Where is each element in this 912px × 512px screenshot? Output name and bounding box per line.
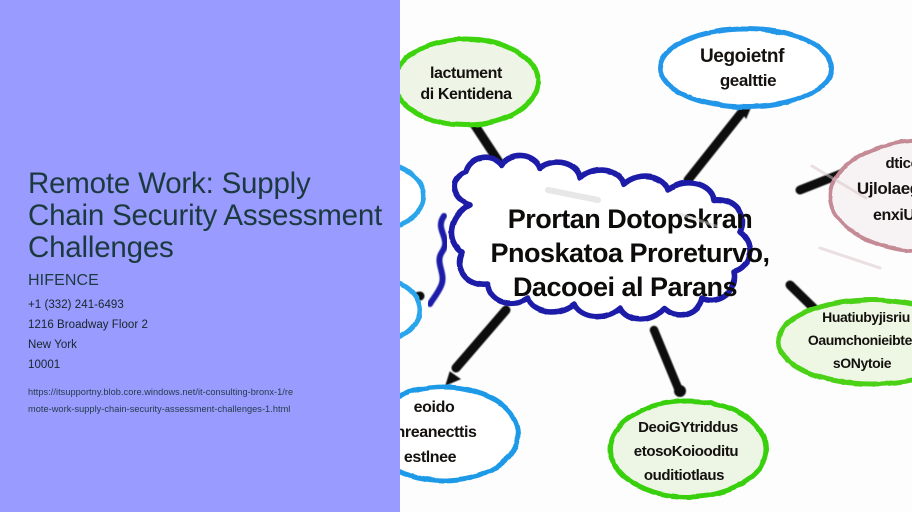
image-canvas: Prortan Dotopskran Pnoskatoa Proreturvo,… (0, 0, 912, 512)
source-url-line-1: https://itsupportny.blob.core.windows.ne… (28, 384, 388, 401)
node-right-pink-line-1: dticee (886, 155, 912, 172)
node-right-green-line-3: sONytoie (833, 355, 892, 371)
node-bottom-left-blue-line-1: eoido (414, 399, 455, 416)
source-url: https://itsupportny.blob.core.windows.ne… (28, 384, 388, 418)
node-right-green-line-2: Oaumchonieibteu (808, 332, 912, 348)
node-bottom-center-green-line-2: etosoKoiooditu (634, 443, 739, 460)
info-panel-content: Remote Work: Supply Chain Security Asses… (28, 168, 388, 418)
brand-name: HIFENCE (28, 272, 388, 290)
node-bottom-center-green: DeoiGYtriddus etosoKoiooditu ouditiotlau… (610, 401, 766, 497)
node-top-left-green-line-2: di Kentidena (420, 86, 512, 103)
node-bottom-center-green-line-1: DeoiGYtriddus (638, 419, 738, 436)
node-top-right-blue-line-2: gealttie (720, 71, 776, 90)
node-right-pink-line-2: Ujlolaegieg (857, 179, 912, 198)
source-url-line-2: mote-work-supply-chain-security-assessme… (28, 401, 388, 418)
cloud-label: Prortan Dotopskran Pnoskatoa Proreturvo,… (490, 204, 769, 302)
node-right-green-line-1: Huatiubyjisriu (822, 309, 910, 325)
node-top-left-green: lactument di Kentidena (394, 39, 538, 125)
contact-address: 1216 Broadway Floor 2 (28, 315, 388, 335)
node-bottom-left-blue-line-2: nreanecttis (396, 424, 477, 441)
contact-city: New York (28, 335, 388, 355)
info-panel: Remote Work: Supply Chain Security Asses… (0, 0, 400, 512)
contact-phone: +1 (332) 241-6493 (28, 295, 388, 315)
node-top-right-blue-line-1: Uegoietnf (700, 46, 785, 67)
cloud-line-2: Pnoskatoa Proreturvo, (490, 238, 769, 268)
node-top-right-blue: Uegoietnf gealttie (660, 29, 832, 107)
node-top-left-green-line-1: lactument (430, 65, 503, 82)
node-bottom-center-green-line-3: ouditiotlaus (644, 467, 724, 484)
contact-zip: 10001 (28, 355, 388, 375)
node-right-pink-line-3: enxiUk (873, 207, 912, 224)
page-title: Remote Work: Supply Chain Security Asses… (28, 168, 388, 264)
cloud-line-3: Dacooei al Parans (513, 272, 737, 302)
cloud-line-1: Prortan Dotopskran (508, 204, 753, 234)
node-bottom-left-blue-line-3: estlnee (404, 449, 457, 466)
